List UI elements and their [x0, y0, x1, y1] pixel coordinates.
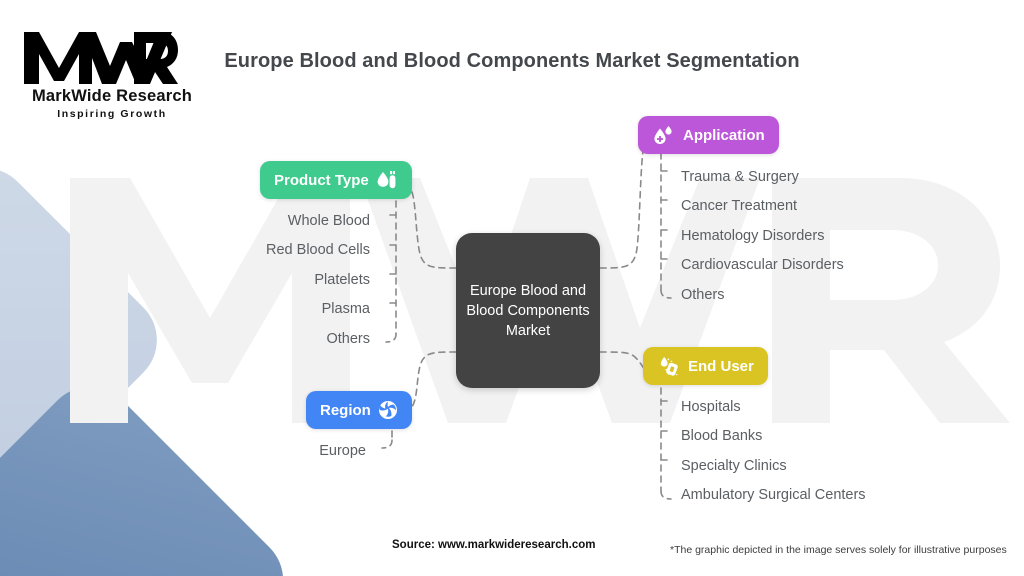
infographic-canvas: MarkWide Research Inspiring Growth Europ… [0, 0, 1024, 576]
list-item: Ambulatory Surgical Centers [655, 481, 995, 510]
list-item: Specialty Clinics [655, 452, 995, 481]
leaf-list-product-type: Whole Blood Red Blood Cells Platelets Pl… [170, 207, 396, 354]
list-item: Europe [190, 437, 392, 466]
center-node-label: Europe Blood and Blood Components Market [456, 281, 600, 341]
center-node: Europe Blood and Blood Components Market [456, 233, 600, 388]
category-badge-end-user[interactable]: End User [643, 347, 768, 385]
category-label-end-user: End User [688, 358, 754, 375]
leaf-list-end-user: Hospitals Blood Banks Specialty Clinics … [655, 393, 995, 511]
list-item: Red Blood Cells [170, 236, 396, 265]
page-title: Europe Blood and Blood Components Market… [0, 50, 1024, 73]
logo-company-name: MarkWide Research [22, 87, 202, 106]
category-label-product-type: Product Type [274, 172, 369, 189]
blood-drops-plus-icon [652, 125, 676, 145]
category-badge-application[interactable]: Application [638, 116, 779, 154]
blood-drop-bag-icon [657, 356, 681, 377]
category-badge-product-type[interactable]: Product Type [260, 161, 412, 199]
globe-icon [378, 400, 398, 420]
source-label: Source: www.markwideresearch.com [392, 539, 595, 551]
list-item: Trauma & Surgery [655, 163, 985, 192]
disclaimer-label: *The graphic depicted in the image serve… [670, 544, 1007, 556]
list-item: Blood Banks [655, 422, 995, 451]
leaf-list-application: Trauma & Surgery Cancer Treatment Hemato… [655, 163, 985, 310]
blood-drop-test-tube-icon [376, 170, 398, 190]
list-item: Whole Blood [170, 207, 396, 236]
category-label-region: Region [320, 402, 371, 419]
list-item: Others [170, 325, 396, 354]
list-item: Platelets [170, 266, 396, 295]
list-item: Hospitals [655, 393, 995, 422]
list-item: Cardiovascular Disorders [655, 251, 985, 280]
list-item: Hematology Disorders [655, 222, 985, 251]
logo-tagline: Inspiring Growth [22, 108, 202, 120]
category-label-application: Application [683, 127, 765, 144]
list-item: Cancer Treatment [655, 192, 985, 221]
category-badge-region[interactable]: Region [306, 391, 412, 429]
list-item: Others [655, 281, 985, 310]
brand-logo: MarkWide Research Inspiring Growth [22, 28, 202, 120]
list-item: Plasma [170, 295, 396, 324]
leaf-list-region: Europe [190, 437, 392, 466]
